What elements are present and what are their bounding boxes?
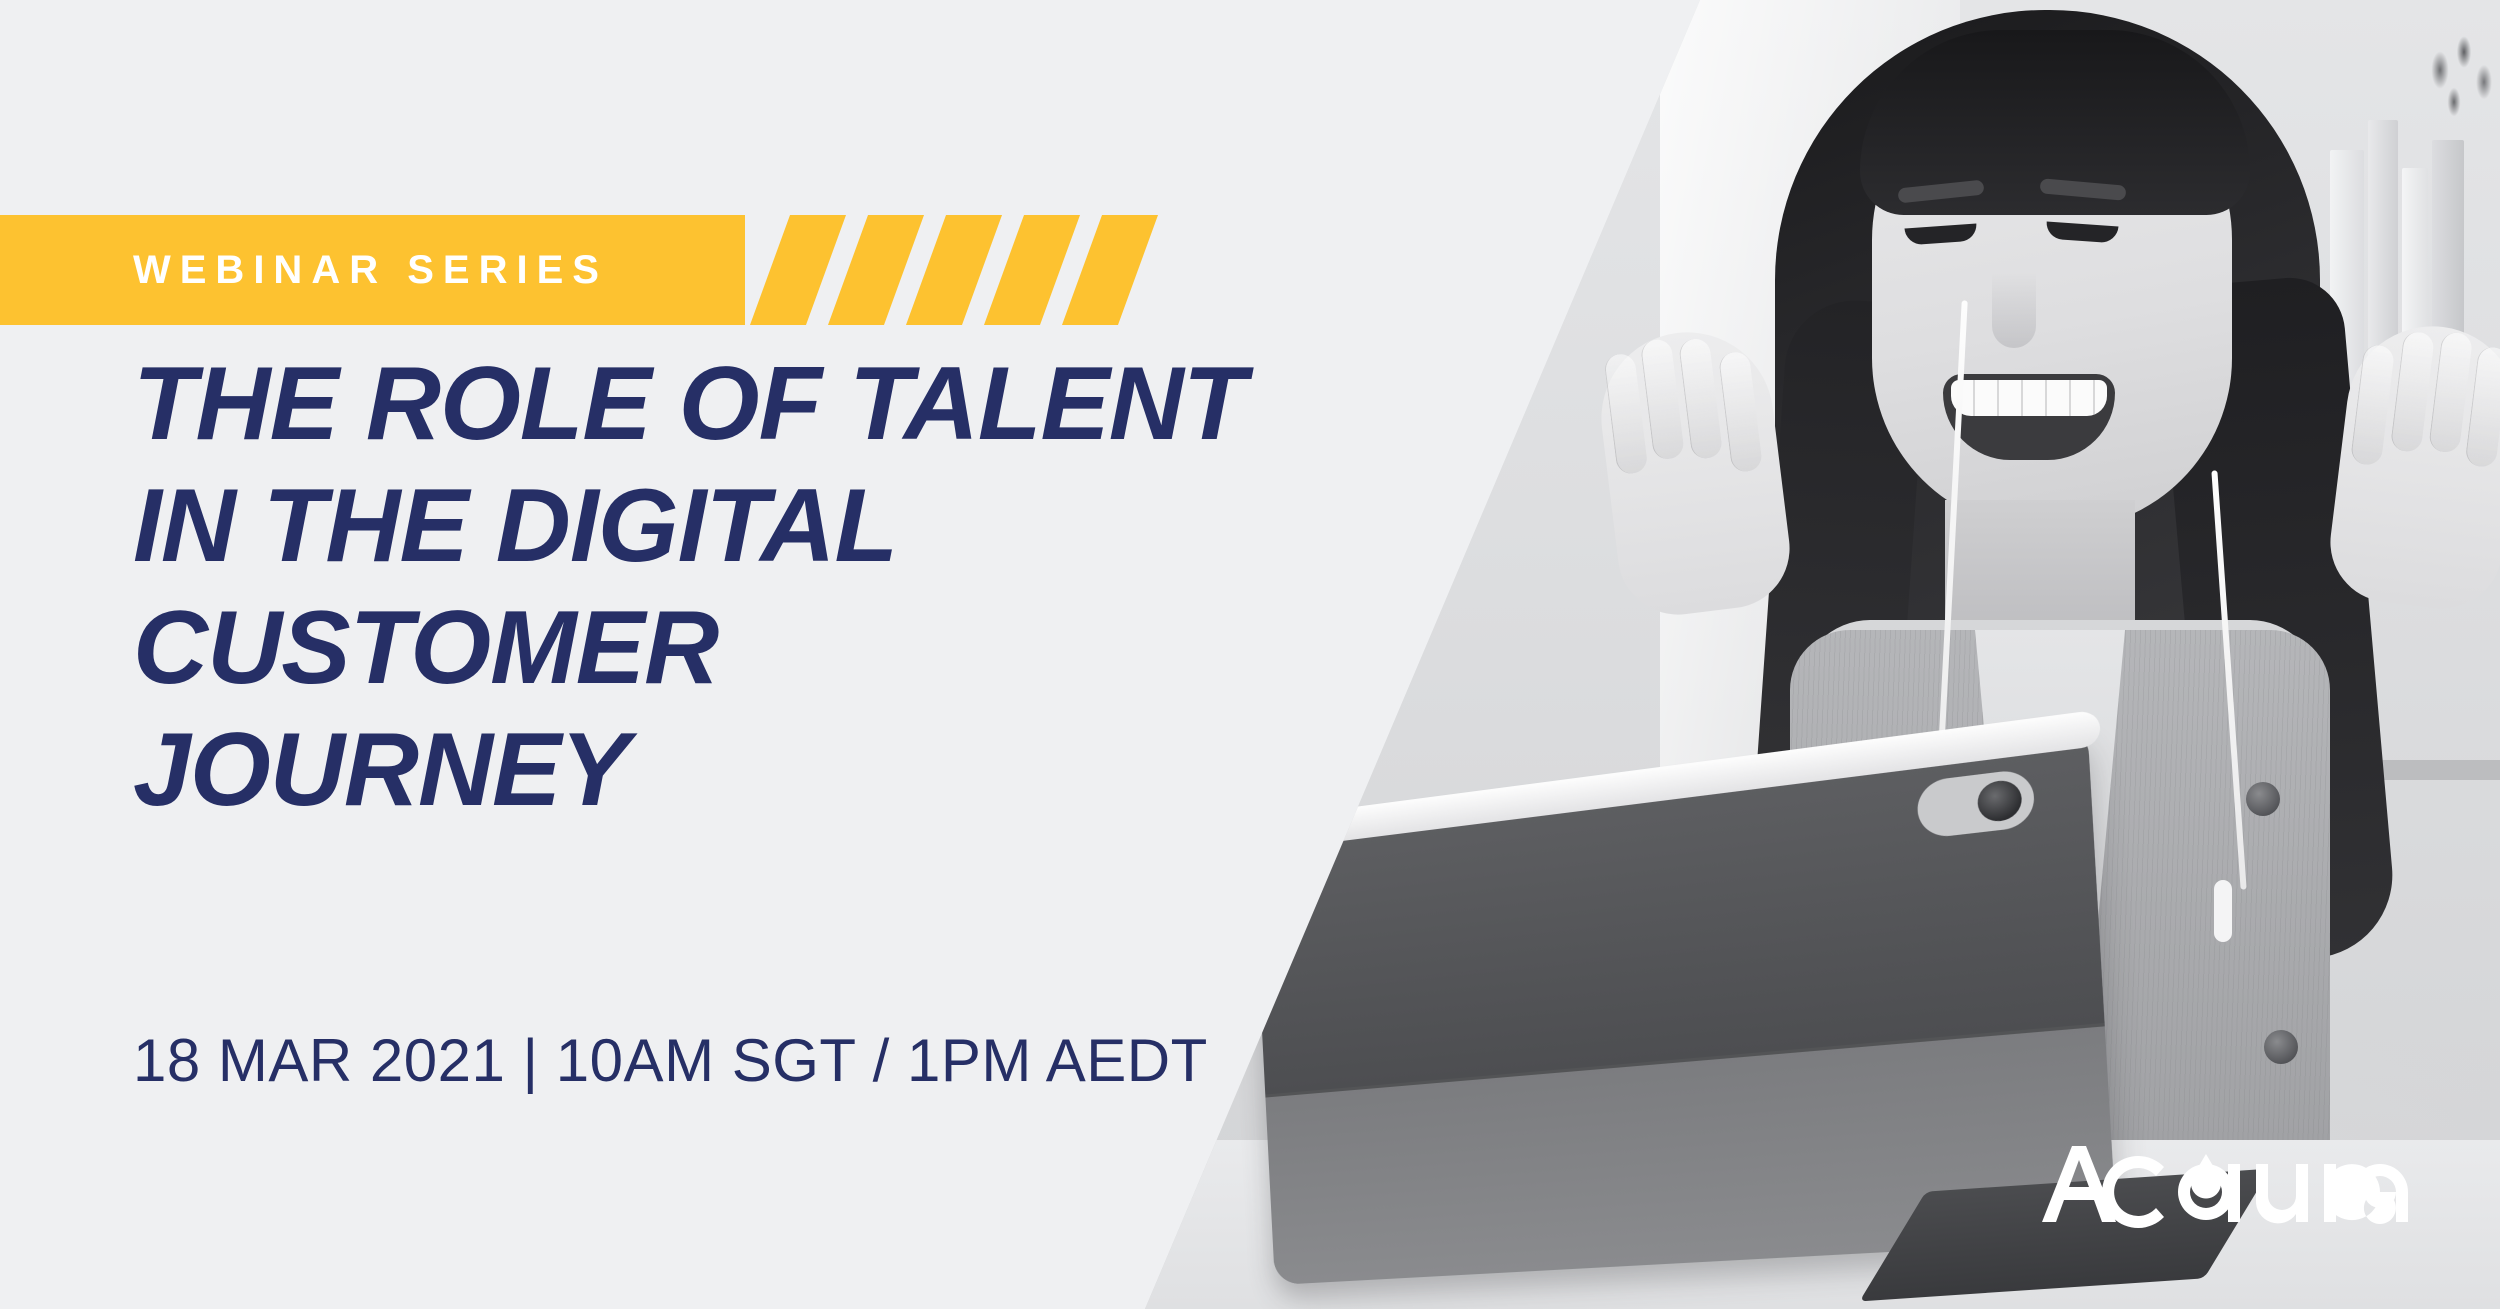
page-title: THE ROLE OF TALENT IN THE DIGITAL CUSTOM… [133, 352, 1245, 840]
teeth [1951, 380, 2107, 416]
earbud-cord-clip [2214, 880, 2232, 942]
hand-right [2324, 317, 2500, 616]
stripe-2 [828, 215, 924, 325]
webinar-promo-banner: WEBINAR SERIES THE ROLE OF TALENT IN THE… [0, 0, 2500, 1309]
nose [1992, 272, 2036, 348]
eyebrow-bar: WEBINAR SERIES [0, 215, 745, 325]
jacket-button [2264, 1030, 2298, 1064]
headline-line-3: CUSTOMER [133, 596, 1245, 700]
headline-line-4: JOURNEY [133, 718, 1245, 822]
hand-left [1592, 323, 1797, 622]
stripe-5 [1062, 215, 1158, 325]
eyebrow-banner: WEBINAR SERIES [0, 215, 1138, 325]
eyebrow-label: WEBINAR SERIES [133, 250, 608, 290]
headline-line-2: IN THE DIGITAL [133, 474, 1245, 578]
stripe-3 [906, 215, 1002, 325]
stripe-1 [750, 215, 846, 325]
stripe-4 [984, 215, 1080, 325]
diagonal-stripes-decor [770, 215, 1138, 325]
schedule-text: 18 MAR 2021 | 10AM SGT / 1PM AEDT [133, 1026, 1208, 1095]
tablet-camera [1916, 768, 2036, 840]
jacket-button [2246, 782, 2280, 816]
headline-line-1: THE ROLE OF TALENT [133, 352, 1245, 456]
acquia-logo [2028, 1136, 2428, 1232]
